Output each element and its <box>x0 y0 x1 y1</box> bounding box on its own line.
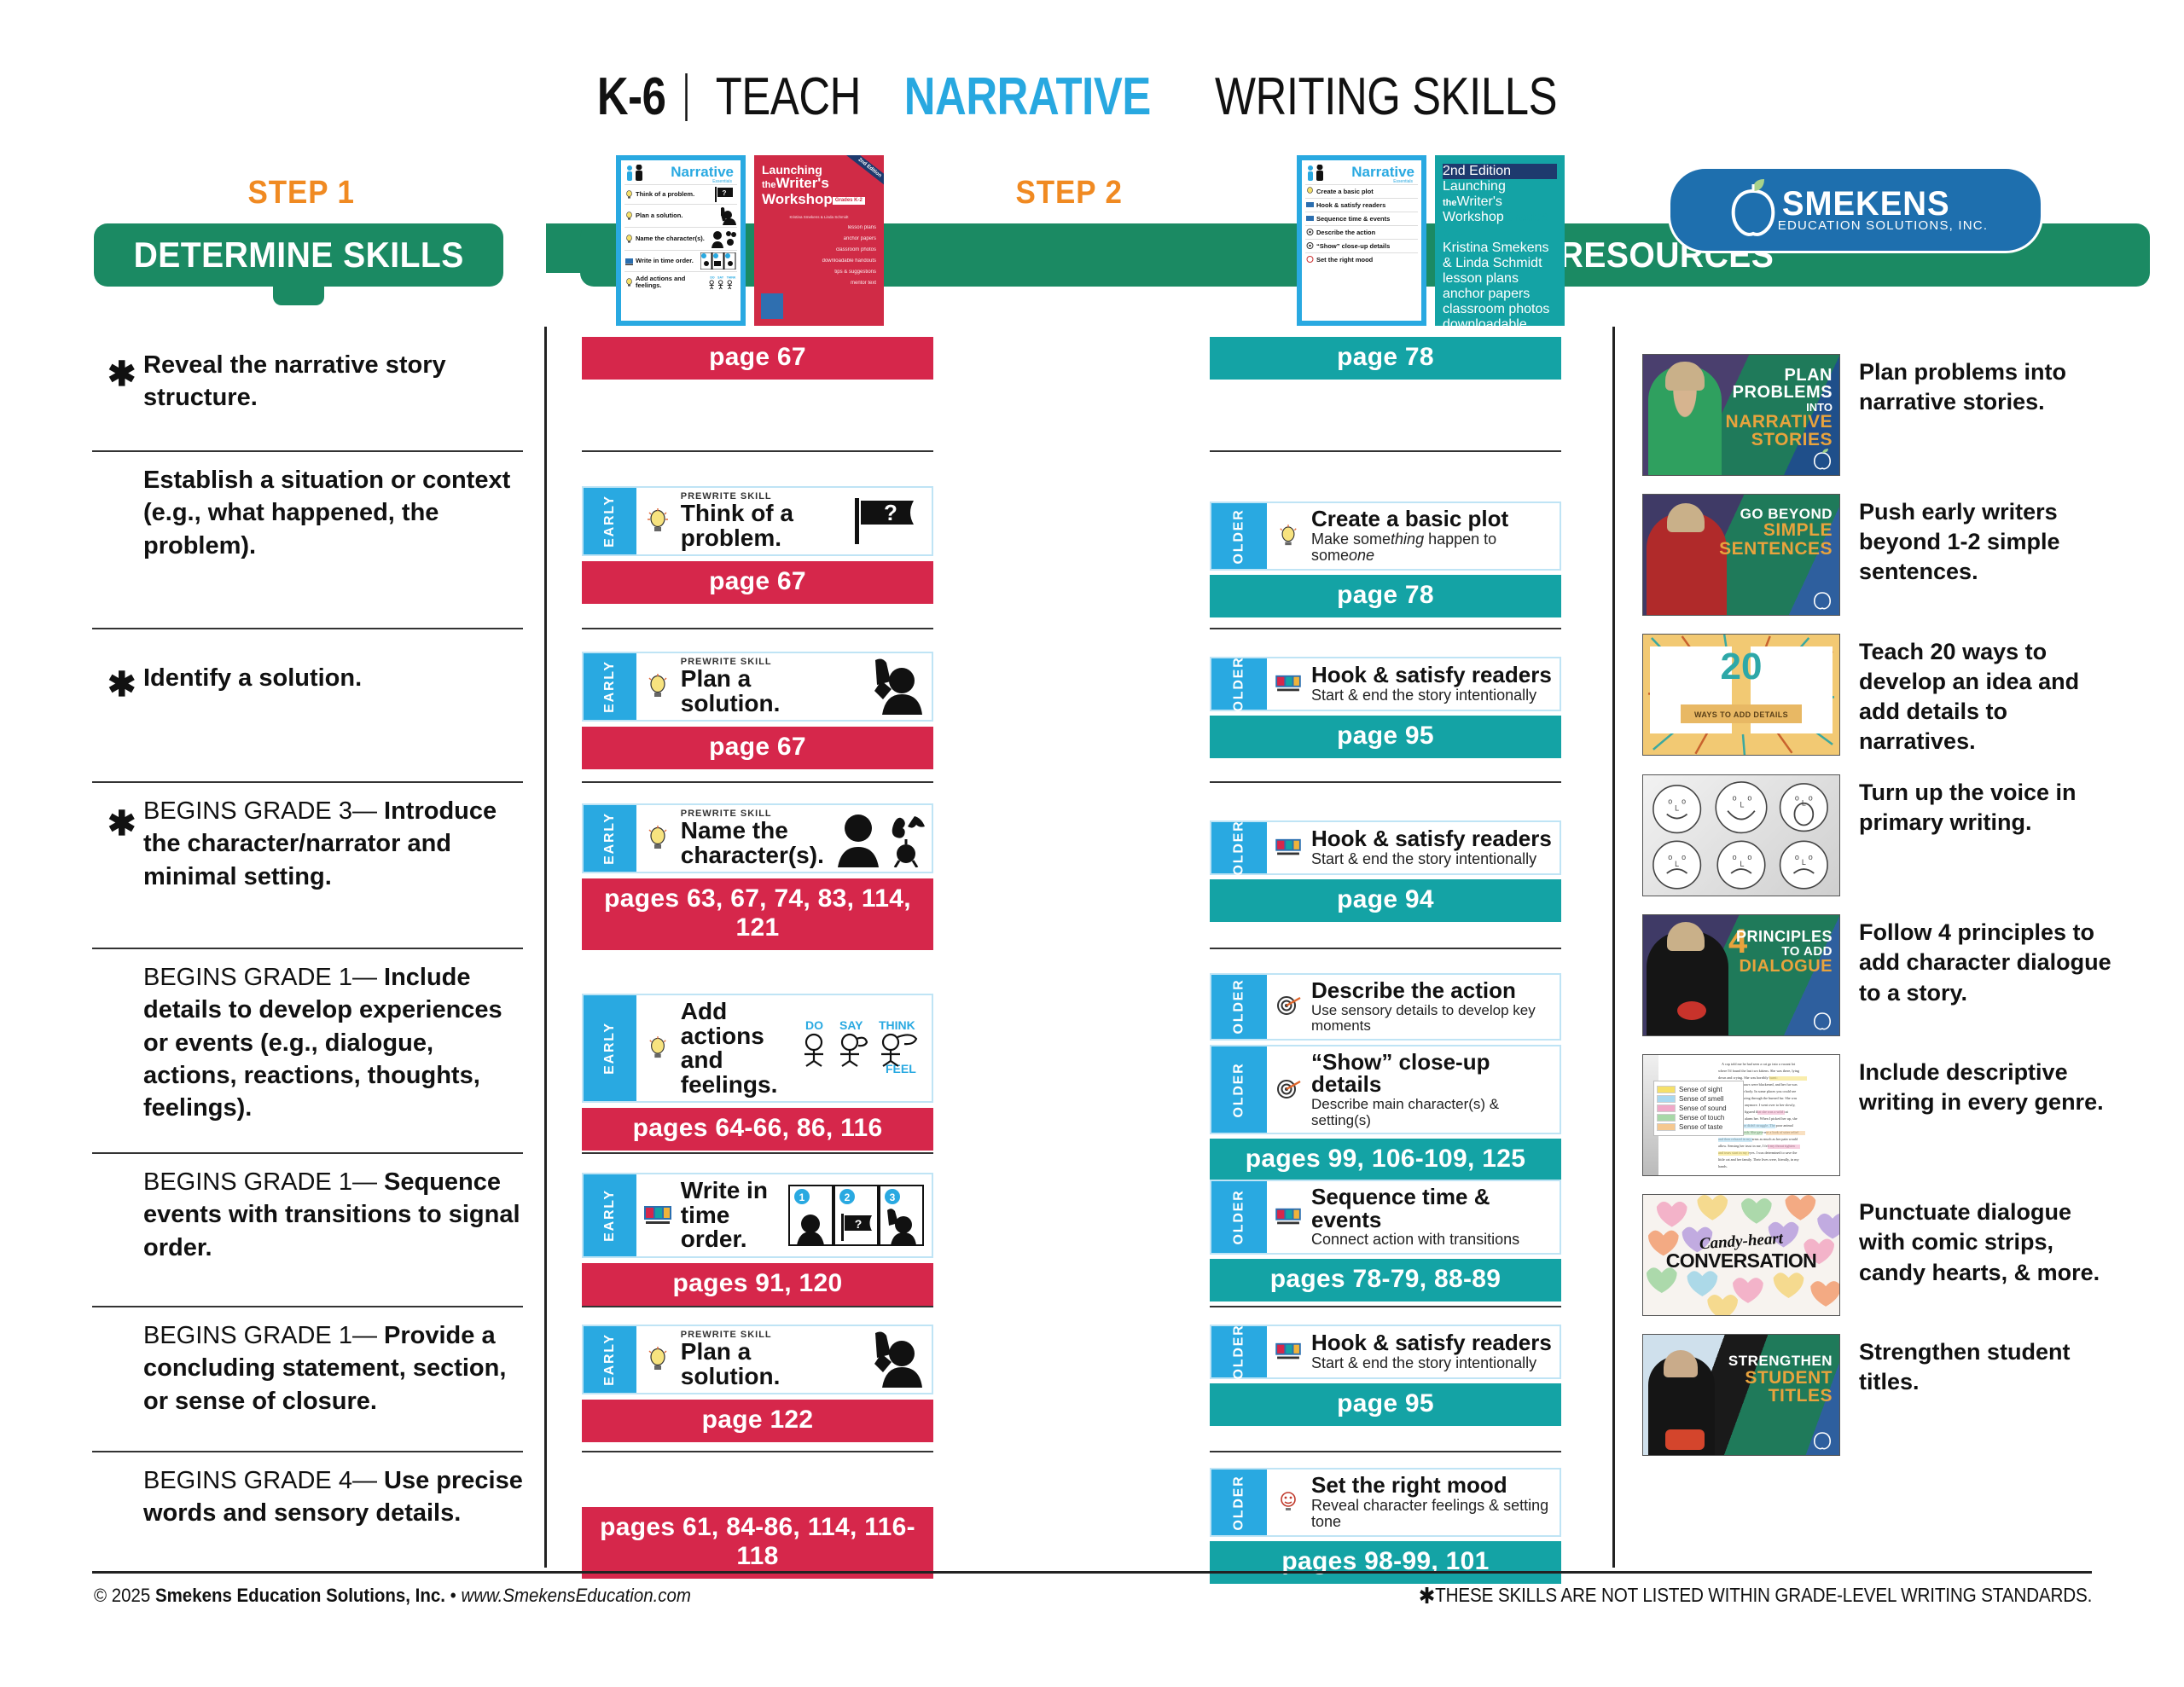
video-caption: Turn up the voice in primary writing. <box>1859 774 2120 838</box>
skill-text: BEGINS GRADE 3— Introduce the character/… <box>143 783 523 908</box>
cover-row-text: Think of a problem. <box>636 191 694 198</box>
card-title: Set the right mood <box>1311 1474 1553 1497</box>
video-thumbnail[interactable]: A cop told me he had seen a cat go into … <box>1642 1054 1840 1176</box>
cover-row: Add actions and feelings. DOSAYTHINK <box>624 271 737 293</box>
skill-text: BEGINS GRADE 1— Sequence events with tra… <box>143 1154 523 1279</box>
video-thumbnail[interactable]: GO BEYOND SIMPLE SENTENCES <box>1642 494 1840 616</box>
cover-feature: lesson plans <box>1443 271 1557 287</box>
svg-text:?: ? <box>884 500 897 525</box>
thumb-line: DIALOGUE <box>1736 958 1833 975</box>
thumb-line: PROBLEMS <box>1726 384 1833 401</box>
svg-text:THINK: THINK <box>879 1018 915 1032</box>
book-cover-launching-36: 2nd Edition Launching theWriter's Worksh… <box>1435 155 1565 326</box>
legend-label: Sense of taste <box>1679 1123 1722 1131</box>
thumb-line: SIMPLE <box>1719 521 1833 539</box>
video-caption: Plan problems into narrative stories. <box>1859 354 2120 417</box>
flag-question-art: ? <box>714 187 736 202</box>
card-subtitle: Connect action with transitions <box>1311 1232 1553 1249</box>
cover-row-text: Hook & satisfy readers <box>1316 202 1385 209</box>
video-item[interactable]: GO BEYOND SIMPLE SENTENCES Push early wr… <box>1642 494 2120 616</box>
svg-text:hands.: hands. <box>1718 1164 1728 1168</box>
thumb-line: TITLES <box>1728 1387 1833 1405</box>
page-bar[interactable]: page 122 <box>582 1400 933 1442</box>
graphic-organizer-icon <box>1274 1207 1303 1227</box>
page-bar[interactable]: pages 98-99, 101 <box>1210 1541 1561 1584</box>
thumb-line: PLAN <box>1726 367 1833 384</box>
card-subtitle: Make something happen to someone <box>1311 531 1553 565</box>
card-title: Name the character(s). <box>681 819 824 867</box>
video-caption: Follow 4 principles to add character dia… <box>1859 914 2120 1007</box>
title-teach: TEACH <box>716 67 861 127</box>
card-subtitle: Start & end the story intentionally <box>1311 687 1553 704</box>
skill-item: ✱ BEGINS GRADE 3— Introduce the characte… <box>92 783 523 949</box>
target-icon <box>1306 228 1314 237</box>
target-icon <box>1274 994 1303 1018</box>
cover-row-text: Create a basic plot <box>1316 188 1374 195</box>
older-tab: OLDER <box>1211 1181 1267 1253</box>
cover-line-3: Workshop <box>1443 210 1504 224</box>
cover-row-text: Set the right mood <box>1316 257 1373 264</box>
svg-text:o: o <box>1795 794 1799 803</box>
page-bar[interactable]: pages 78-79, 88-89 <box>1210 1259 1561 1301</box>
thumb-line: STRENGTHEN <box>1728 1354 1833 1368</box>
lightbulb-icon <box>625 278 633 287</box>
graphic-organizer-icon <box>643 1204 672 1226</box>
lightbulb-icon <box>643 507 672 535</box>
three-panel-art <box>700 252 736 270</box>
cover-row: Set the right mood <box>1305 252 1418 266</box>
svg-text:o: o <box>1668 854 1672 862</box>
cover-row: Sequence time & events <box>1305 212 1418 225</box>
characters-art <box>711 229 736 248</box>
lightbulb-icon <box>625 212 633 221</box>
cover-authors: Kristina Smekens & Linda Schmidt <box>762 215 876 219</box>
thumb-line: INTO <box>1726 402 1833 413</box>
cover-row-text: Name the character(s). <box>636 235 705 242</box>
page-bar[interactable]: pages 91, 120 <box>582 1263 933 1306</box>
thumb-line: PRINCIPLES <box>1736 929 1833 944</box>
lightbulb-icon <box>643 1346 672 1373</box>
page-title: K-6TEACH NARRATIVE WRITING SKILLS <box>0 67 2184 127</box>
svg-text:DO: DO <box>710 276 715 280</box>
svg-text:L: L <box>1802 799 1806 808</box>
early-tab: EARLY <box>584 488 636 554</box>
card-title: Add actions and feelings. <box>681 1000 788 1097</box>
cover-row: Create a basic plot <box>1305 184 1418 198</box>
video-item[interactable]: Candy-heart CONVERSATION Punctuate dialo… <box>1642 1194 2120 1316</box>
early-block: EARLY Add actions and feelings. DO SAY T… <box>582 949 933 1154</box>
fist-raise-art <box>714 206 736 225</box>
svg-text:2: 2 <box>845 1191 851 1203</box>
older-block: OLDER Hook & satisfy readers Start & end… <box>1210 629 1561 783</box>
graphic-organizer-icon <box>1274 1342 1303 1362</box>
card-subtitle: Start & end the story intentionally <box>1311 1355 1553 1372</box>
early-card[interactable]: EARLY PREWRITE SKILL Think of a problem.… <box>582 486 933 556</box>
thumb-caption: WAYS TO ADD DETAILS <box>1694 710 1788 719</box>
lightbulb-icon <box>643 673 672 700</box>
skill-item: BEGINS GRADE 1— Provide a concluding sta… <box>92 1307 523 1452</box>
svg-text:where I'd found the last two k: where I'd found the last two kittens. Sh… <box>1718 1069 1800 1074</box>
footer-copyright: © 2025 Smekens Education Solutions, Inc.… <box>94 1585 691 1607</box>
publisher-badge <box>761 293 783 319</box>
cover-row: Name the character(s). <box>624 227 737 250</box>
older-block: OLDER Describe the action Use sensory de… <box>1210 949 1561 1154</box>
svg-text:o: o <box>1809 794 1813 803</box>
asterisk-icon: ✱ <box>1419 1583 1435 1609</box>
cover-feature: classroom photos <box>1443 302 1557 317</box>
page-bar[interactable]: page 67 <box>582 337 933 380</box>
card-title: “Show” close-up details <box>1311 1051 1553 1096</box>
graphic-organizer-icon <box>1306 214 1314 223</box>
early-block: EARLY PREWRITE SKILL Think of a problem.… <box>582 452 933 629</box>
column-divider-right <box>1612 327 1615 1568</box>
graphic-organizer-icon <box>1306 200 1314 210</box>
early-block: EARLY PREWRITE SKILL Plan a solution. pa… <box>582 1307 933 1452</box>
cover-row: “Show” close-up details <box>1305 239 1418 252</box>
banner-tab <box>273 283 324 305</box>
book-cover-narrative-early: Narrative Essentials Think of a problem.… <box>616 155 746 326</box>
cover-row-text: Plan a solution. <box>636 212 682 219</box>
book-cover-launching-k2: 2nd Edition Launching theWriter's Worksh… <box>754 155 884 326</box>
mood-face-icon <box>1306 255 1314 264</box>
early-card[interactable]: EARLY PREWRITE SKILL Plan a solution. <box>582 1325 933 1394</box>
book-covers-early: Narrative Essentials Think of a problem.… <box>616 155 884 326</box>
cover-grades: Grades K-2 <box>833 197 865 205</box>
page-bar[interactable]: pages 64-66, 86, 116 <box>582 1108 933 1151</box>
page-bar[interactable]: page 78 <box>1210 337 1561 380</box>
svg-text:o: o <box>1747 794 1751 803</box>
early-tab: EARLY <box>584 805 636 872</box>
legend-label: Sense of sight <box>1679 1086 1722 1093</box>
page-bar[interactable]: pages 61, 84-86, 114, 116-118 <box>582 1507 933 1579</box>
emotion-faces-art: ooL ooL ooL ooL ooL ooL <box>1643 775 1839 896</box>
older-tab: OLDER <box>1211 1046 1267 1133</box>
page-bar[interactable]: page 95 <box>1210 716 1561 758</box>
card-title: Think of a problem. <box>681 501 843 550</box>
older-card[interactable]: OLDER Sequence time & events Connect act… <box>1210 1180 1561 1255</box>
video-item[interactable]: PLAN PROBLEMS INTO NARRATIVE STORIES Pla… <box>1642 354 2120 476</box>
video-caption: Punctuate dialogue with comic strips, ca… <box>1859 1194 2120 1287</box>
step-1-label: STEP 1 <box>247 175 354 212</box>
svg-text:L: L <box>1802 858 1806 867</box>
cover-line-2b: Writer's <box>776 175 829 191</box>
cover-feature: anchor papers <box>762 236 876 241</box>
fist-raise-art <box>853 1331 925 1388</box>
video-caption: Include descriptive writing in every gen… <box>1859 1054 2120 1117</box>
early-block: page 67 <box>582 337 933 452</box>
do-say-think-feel-art: DOSAYTHINK <box>706 274 736 291</box>
cover-title: Narrative <box>1331 165 1418 179</box>
older-card[interactable]: OLDER Hook & satisfy readers Start & end… <box>1210 657 1561 711</box>
older-tab: OLDER <box>1211 1470 1267 1535</box>
cover-row: Hook & satisfy readers <box>1305 198 1418 212</box>
card-subtitle: Use sensory details to develop key momen… <box>1311 1003 1553 1035</box>
thumb-line: NARRATIVE <box>1726 413 1833 431</box>
skill-item: BEGINS GRADE 1— Sequence events with tra… <box>92 1154 523 1307</box>
asterisk-icon: ✱ <box>107 357 136 391</box>
target-icon <box>1306 241 1314 251</box>
edition-ribbon: 2nd Edition <box>1443 164 1557 179</box>
skill-text: BEGINS GRADE 1— Include details to devel… <box>143 949 523 1139</box>
card-title: Write in time order. <box>681 1179 780 1252</box>
lightbulb-icon <box>1274 524 1303 549</box>
card-title: Create a basic plot <box>1311 507 1553 530</box>
thumb-line: TO ADD <box>1736 945 1833 958</box>
footer-note: ✱THESE SKILLS ARE NOT LISTED WITHIN GRAD… <box>1419 1583 2092 1609</box>
cover-feature: tips & suggestions <box>762 270 876 275</box>
cover-feature: downloadable handouts <box>1443 317 1557 326</box>
card-title: Sequence time & events <box>1311 1186 1553 1231</box>
svg-text:L: L <box>1675 804 1679 813</box>
infographic-page: K-6TEACH NARRATIVE WRITING SKILLS STEP 1… <box>0 0 2184 1687</box>
svg-text:o: o <box>1668 797 1672 806</box>
older-card[interactable]: OLDER Hook & satisfy readers Start & end… <box>1210 820 1561 875</box>
apple-icon <box>1811 1428 1833 1450</box>
video-item[interactable]: STRENGTHEN STUDENT TITLES Strengthen stu… <box>1642 1334 2120 1456</box>
apple-icon <box>1723 177 1783 239</box>
page-bar[interactable]: page 67 <box>582 561 933 604</box>
video-thumbnail[interactable]: Candy-heart CONVERSATION <box>1642 1194 1840 1316</box>
card-title: Hook & satisfy readers <box>1311 664 1553 687</box>
svg-text:DO: DO <box>805 1018 823 1032</box>
skill-item: BEGINS GRADE 1— Include details to devel… <box>92 949 523 1154</box>
lightbulb-icon <box>625 235 633 244</box>
older-block: OLDER Hook & satisfy readers Start & end… <box>1210 783 1561 949</box>
smekens-logo: SMEKENS EDUCATION SOLUTIONS, INC. <box>1668 166 2043 253</box>
skill-text: Identify a solution. <box>143 629 362 710</box>
video-item[interactable]: ooL ooL ooL ooL ooL ooL Turn up the voic… <box>1642 774 2120 896</box>
do-say-think-feel-art: DO SAY THINK FEEL <box>797 1018 925 1078</box>
card-title: Hook & satisfy readers <box>1311 827 1553 850</box>
logo-main-text: SMEKENS <box>1782 188 1984 220</box>
title-divider <box>685 73 687 121</box>
two-figures-icon <box>1305 165 1331 182</box>
card-title: Hook & satisfy readers <box>1311 1331 1553 1354</box>
svg-text:L: L <box>1740 860 1744 868</box>
video-caption: Push early writers beyond 1-2 simple sen… <box>1859 494 2120 587</box>
svg-text:?: ? <box>723 189 727 197</box>
videos-column: PLAN PROBLEMS INTO NARRATIVE STORIES Pla… <box>1642 354 2120 1474</box>
svg-text:o: o <box>1809 854 1813 862</box>
cover-line-1: Launching <box>1443 179 1557 194</box>
cover-feature: classroom photos <box>762 247 876 252</box>
card-subtitle: Describe main character(s) & setting(s) <box>1311 1097 1553 1128</box>
older-tab: OLDER <box>1211 975 1267 1039</box>
page-bar[interactable]: page 78 <box>1210 575 1561 617</box>
target-icon <box>1274 1078 1303 1102</box>
cover-line-2a: the <box>762 180 776 190</box>
lightbulb-icon <box>643 1035 672 1061</box>
graphic-organizer-icon <box>1274 838 1303 858</box>
svg-text:o: o <box>1747 854 1751 862</box>
cover-feature: lesson plans <box>762 225 876 230</box>
early-card[interactable]: EARLY PREWRITE SKILL Plan a solution. <box>582 652 933 722</box>
cover-row: Plan a solution. <box>624 204 737 227</box>
book-covers-older: Narrative Essentials Create a basic plot… <box>1297 155 1565 326</box>
svg-text:down and crying. She was horri: down and crying. She was horribly burnt: <box>1718 1075 1778 1080</box>
footer-divider <box>92 1571 2092 1574</box>
older-block: page 78 <box>1210 337 1561 452</box>
video-caption: Strengthen student titles. <box>1859 1334 2120 1397</box>
svg-text:o: o <box>1733 794 1737 803</box>
apple-icon <box>1811 448 1833 470</box>
thumb-line: SENTENCES <box>1719 540 1833 558</box>
older-card[interactable]: OLDER “Show” close-up details Describe m… <box>1210 1045 1561 1134</box>
skill-text: Reveal the narrative story structure. <box>143 337 523 430</box>
two-figures-icon <box>624 165 650 182</box>
older-tab: OLDER <box>1211 822 1267 873</box>
cover-feature: anchor papers <box>1443 287 1557 302</box>
apple-icon <box>1811 588 1833 610</box>
older-block: OLDER Sequence time & events Connect act… <box>1210 1154 1561 1307</box>
cover-title: Narrative <box>650 165 737 179</box>
older-tab: OLDER <box>1211 658 1267 710</box>
three-panel-art: 1 2 3 ? <box>788 1185 925 1246</box>
svg-text:little cat and her family. The: little cat and her family. Their lives w… <box>1718 1157 1800 1162</box>
card-title: Describe the action <box>1311 979 1553 1002</box>
older-card[interactable]: OLDER Create a basic plot Make something… <box>1210 501 1561 571</box>
thumb-line: GO BEYOND <box>1719 507 1833 521</box>
skill-text: BEGINS GRADE 1— Provide a concluding sta… <box>143 1307 523 1433</box>
skill-item: Establish a situation or context (e.g., … <box>92 452 523 629</box>
fist-raise-art <box>853 658 925 715</box>
card-title: Plan a solution. <box>681 1340 845 1388</box>
svg-text:THINK: THINK <box>727 276 736 280</box>
svg-text:1: 1 <box>799 1191 805 1203</box>
video-thumbnail[interactable]: STRENGTHEN STUDENT TITLES <box>1642 1334 1840 1456</box>
lightbulb-icon <box>643 825 672 852</box>
older-block: OLDER Create a basic plot Make something… <box>1210 452 1561 629</box>
legend-label: Sense of touch <box>1679 1114 1724 1122</box>
cover-row-text: Add actions and feelings. <box>636 275 704 289</box>
graphic-organizer-icon <box>1274 674 1303 694</box>
video-thumbnail[interactable]: ooL ooL ooL ooL ooL ooL <box>1642 774 1840 896</box>
older-block: OLDER Hook & satisfy readers Start & end… <box>1210 1307 1561 1452</box>
asterisk-icon: ✱ <box>107 668 136 702</box>
early-block: EARLY PREWRITE SKILL Plan a solution. pa… <box>582 629 933 783</box>
svg-text:SAY: SAY <box>717 276 724 280</box>
mood-face-icon <box>1274 1490 1303 1516</box>
early-tab: EARLY <box>584 1174 636 1256</box>
cover-authors: Kristina Smekens & Linda Schmidt <box>1443 241 1557 271</box>
book-cover-narrative-older: Narrative Essentials Create a basic plot… <box>1297 155 1426 326</box>
video-item[interactable]: 4 PRINCIPLES TO ADD DIALOGUE Follow 4 pr… <box>1642 914 2120 1036</box>
svg-text:o: o <box>1733 854 1737 862</box>
older-card[interactable]: OLDER Hook & satisfy readers Start & end… <box>1210 1325 1561 1379</box>
skill-text: BEGINS GRADE 4— Use precise words and se… <box>143 1452 523 1545</box>
video-item[interactable]: A cop told me he had seen a cat go into … <box>1642 1054 2120 1176</box>
cover-row-text: Write in time order. <box>636 258 694 264</box>
thumb-number: 20 <box>1643 650 1839 684</box>
title-k6: K-6 <box>596 67 665 127</box>
early-tab: EARLY <box>584 1326 636 1393</box>
skill-item: ✱ Reveal the narrative story structure. <box>92 337 523 452</box>
early-card[interactable]: EARLY PREWRITE SKILL Name the character(… <box>582 803 933 873</box>
svg-text:A cop told me he had seen a ca: A cop told me he had seen a cat go into … <box>1722 1062 1796 1066</box>
svg-text:L: L <box>1675 860 1679 868</box>
early-tab: EARLY <box>584 995 636 1101</box>
page-bar[interactable]: pages 63, 67, 74, 83, 114, 121 <box>582 878 933 950</box>
cover-feature: mentor text <box>762 281 876 286</box>
skill-item: ✱ Identify a solution. <box>92 629 523 783</box>
thumb-line: STUDENT <box>1728 1369 1833 1387</box>
page-bar[interactable]: page 95 <box>1210 1383 1561 1426</box>
lightbulb-icon <box>1306 187 1314 196</box>
svg-text:3: 3 <box>890 1191 896 1203</box>
title-narrative: NARRATIVE <box>903 67 1150 127</box>
older-resources-column: page 78 OLDER Create a basic plot Make s… <box>1210 337 1561 1593</box>
cover-row-text: Describe the action <box>1316 229 1375 236</box>
flag-question-art: ? <box>851 496 925 546</box>
legend-label: Sense of smell <box>1679 1095 1723 1103</box>
video-thumbnail[interactable]: PLAN PROBLEMS INTO NARRATIVE STORIES <box>1642 354 1840 476</box>
older-card[interactable]: OLDER Set the right mood Reveal characte… <box>1210 1468 1561 1537</box>
svg-text:SAY: SAY <box>839 1018 863 1032</box>
early-block: EARLY PREWRITE SKILL Name the character(… <box>582 783 933 949</box>
older-tab: OLDER <box>1211 1326 1267 1377</box>
apple-icon <box>1811 1008 1833 1030</box>
cover-line-2a: the <box>1443 198 1457 208</box>
card-title: Plan a solution. <box>681 667 845 716</box>
video-thumbnail[interactable]: 20 WAYS TO ADD DETAILS <box>1642 634 1840 756</box>
svg-text:L: L <box>1740 801 1744 809</box>
cover-row: Write in time order. <box>624 250 737 271</box>
title-writing: WRITING SKILLS <box>1215 67 1557 127</box>
early-tab: EARLY <box>584 653 636 720</box>
svg-text:o: o <box>1795 854 1799 862</box>
cover-row: Think of a problem. ? <box>624 184 737 204</box>
cover-row-text: “Show” close-up details <box>1316 243 1390 250</box>
skill-text: Establish a situation or context (e.g., … <box>143 452 523 577</box>
cover-line-3: Workshop <box>762 191 833 207</box>
skills-column: ✱ Reveal the narrative story structure. … <box>92 337 523 1593</box>
svg-text:?: ? <box>855 1217 863 1231</box>
lightbulb-icon <box>625 190 633 200</box>
early-card[interactable]: EARLY Add actions and feelings. DO SAY T… <box>582 994 933 1103</box>
card-subtitle: Reveal character feelings & setting tone <box>1311 1498 1553 1532</box>
svg-text:o: o <box>1682 797 1686 806</box>
older-card[interactable]: OLDER Describe the action Use sensory de… <box>1210 973 1561 1041</box>
characters-art <box>833 809 933 867</box>
step-2-label: STEP 2 <box>1015 175 1122 212</box>
step-1-banner: DETERMINE SKILLS <box>94 223 503 287</box>
graphic-organizer-icon <box>625 257 633 266</box>
cover-row: Describe the action <box>1305 225 1418 239</box>
early-resources-column: page 67 EARLY PREWRITE SKILL Think of a … <box>582 337 933 1593</box>
column-divider-left <box>544 327 547 1568</box>
cover-feature: downloadable handouts <box>762 258 876 264</box>
older-tab: OLDER <box>1211 503 1267 569</box>
thumb-line: STORIES <box>1726 431 1833 449</box>
early-block: EARLY Write in time order. 1 <box>582 1154 933 1307</box>
cover-line-2b: Writer's <box>1457 194 1502 209</box>
svg-text:FEEL: FEEL <box>886 1062 916 1075</box>
page-bar[interactable]: page 67 <box>582 727 933 769</box>
svg-text:o: o <box>1682 854 1686 862</box>
video-thumbnail[interactable]: 4 PRINCIPLES TO ADD DIALOGUE <box>1642 914 1840 1036</box>
asterisk-icon: ✱ <box>107 807 136 841</box>
page-bar[interactable]: page 94 <box>1210 879 1561 922</box>
card-subtitle: Start & end the story intentionally <box>1311 851 1553 868</box>
video-item[interactable]: 20 WAYS TO ADD DETAILS Teach 20 ways to … <box>1642 634 2120 757</box>
step-1-banner-text: DETERMINE SKILLS <box>133 235 463 275</box>
legend-label: Sense of sound <box>1679 1104 1727 1112</box>
cover-row-text: Sequence time & events <box>1316 216 1390 223</box>
video-caption: Teach 20 ways to develop an idea and add… <box>1859 634 2120 757</box>
early-card[interactable]: EARLY Write in time order. 1 <box>582 1173 933 1258</box>
